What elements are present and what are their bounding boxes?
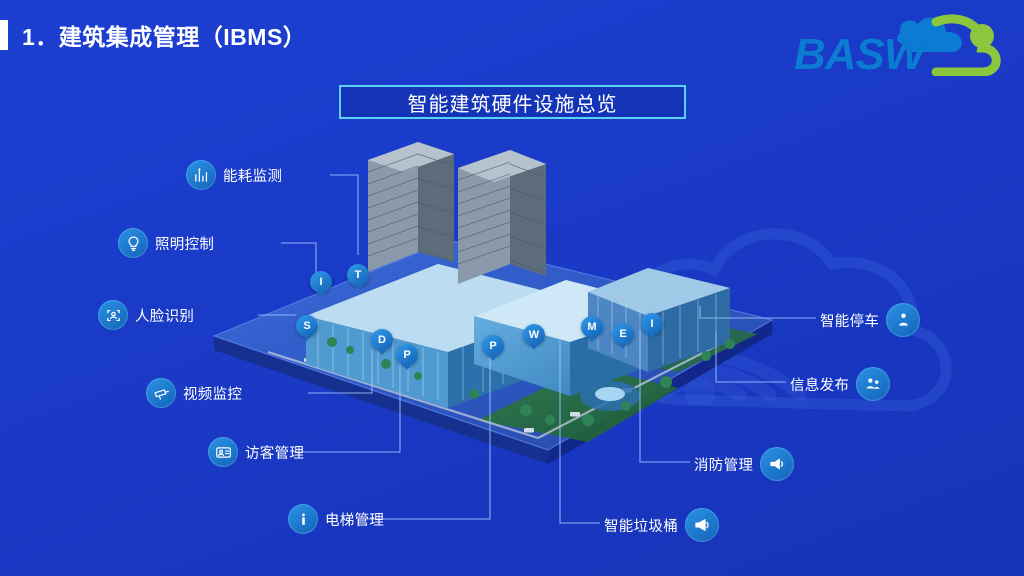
map-pin-T[interactable]: T <box>347 264 369 286</box>
map-pin-P-2[interactable]: P <box>482 335 504 357</box>
callout-label-energy-monitoring: 能耗监测 <box>223 165 282 186</box>
info-i-icon <box>288 504 318 534</box>
callout-visitor-management[interactable]: 访客管理 <box>208 437 304 467</box>
energy-meter-icon <box>186 160 216 190</box>
cctv-camera-icon <box>146 378 176 408</box>
brand-logo: BASW <box>786 14 1006 76</box>
callout-smart-trash-bin[interactable]: 智能垃圾桶 <box>604 508 719 542</box>
title-text: 1．建筑集成管理（IBMS） <box>22 18 306 52</box>
banner-text: 智能建筑硬件设施总览 <box>408 88 618 117</box>
callout-info-publishing[interactable]: 信息发布 <box>790 367 890 401</box>
person-parking-icon <box>886 303 920 337</box>
map-pin-P-1[interactable]: P <box>396 344 418 366</box>
map-pin-M[interactable]: M <box>581 316 603 338</box>
logo-wordmark: BASW <box>794 30 924 80</box>
overview-banner: 智能建筑硬件设施总览 <box>339 85 686 119</box>
map-pin-I-2[interactable]: I <box>641 313 663 335</box>
map-pin-D[interactable]: D <box>371 329 393 351</box>
slide-canvas: 1．建筑集成管理（IBMS） BASW 智能建筑硬件设施总览 <box>0 0 1024 576</box>
callout-video-surveillance[interactable]: 视频监控 <box>146 378 242 408</box>
callout-label-smart-trash-bin: 智能垃圾桶 <box>604 515 678 536</box>
callout-label-info-publishing: 信息发布 <box>790 374 849 395</box>
map-pin-I-1[interactable]: I <box>310 271 332 293</box>
callout-fire-management[interactable]: 消防管理 <box>694 447 794 481</box>
title-accent-bar <box>0 20 8 50</box>
callout-smart-parking[interactable]: 智能停车 <box>820 303 920 337</box>
callout-lighting-control[interactable]: 照明控制 <box>118 228 214 258</box>
fire-alarm-icon <box>760 447 794 481</box>
callout-label-smart-parking: 智能停车 <box>820 310 879 331</box>
callout-energy-monitoring[interactable]: 能耗监测 <box>186 160 282 190</box>
callout-elevator-management[interactable]: 电梯管理 <box>288 504 384 534</box>
map-pin-W[interactable]: W <box>523 324 545 346</box>
id-card-icon <box>208 437 238 467</box>
map-pin-E[interactable]: E <box>612 323 634 345</box>
callout-label-visitor-management: 访客管理 <box>245 442 304 463</box>
lightbulb-icon <box>118 228 148 258</box>
callout-label-elevator-management: 电梯管理 <box>325 509 384 530</box>
page-title: 1．建筑集成管理（IBMS） <box>0 18 306 52</box>
megaphone-icon <box>685 508 719 542</box>
callout-label-face-recognition: 人脸识别 <box>135 305 194 326</box>
callout-face-recognition[interactable]: 人脸识别 <box>98 300 194 330</box>
face-id-icon <box>98 300 128 330</box>
callout-label-fire-management: 消防管理 <box>694 454 753 475</box>
broadcast-people-icon <box>856 367 890 401</box>
map-pin-S[interactable]: S <box>296 315 318 337</box>
callout-label-lighting-control: 照明控制 <box>155 233 214 254</box>
callout-label-video-surveillance: 视频监控 <box>183 383 242 404</box>
